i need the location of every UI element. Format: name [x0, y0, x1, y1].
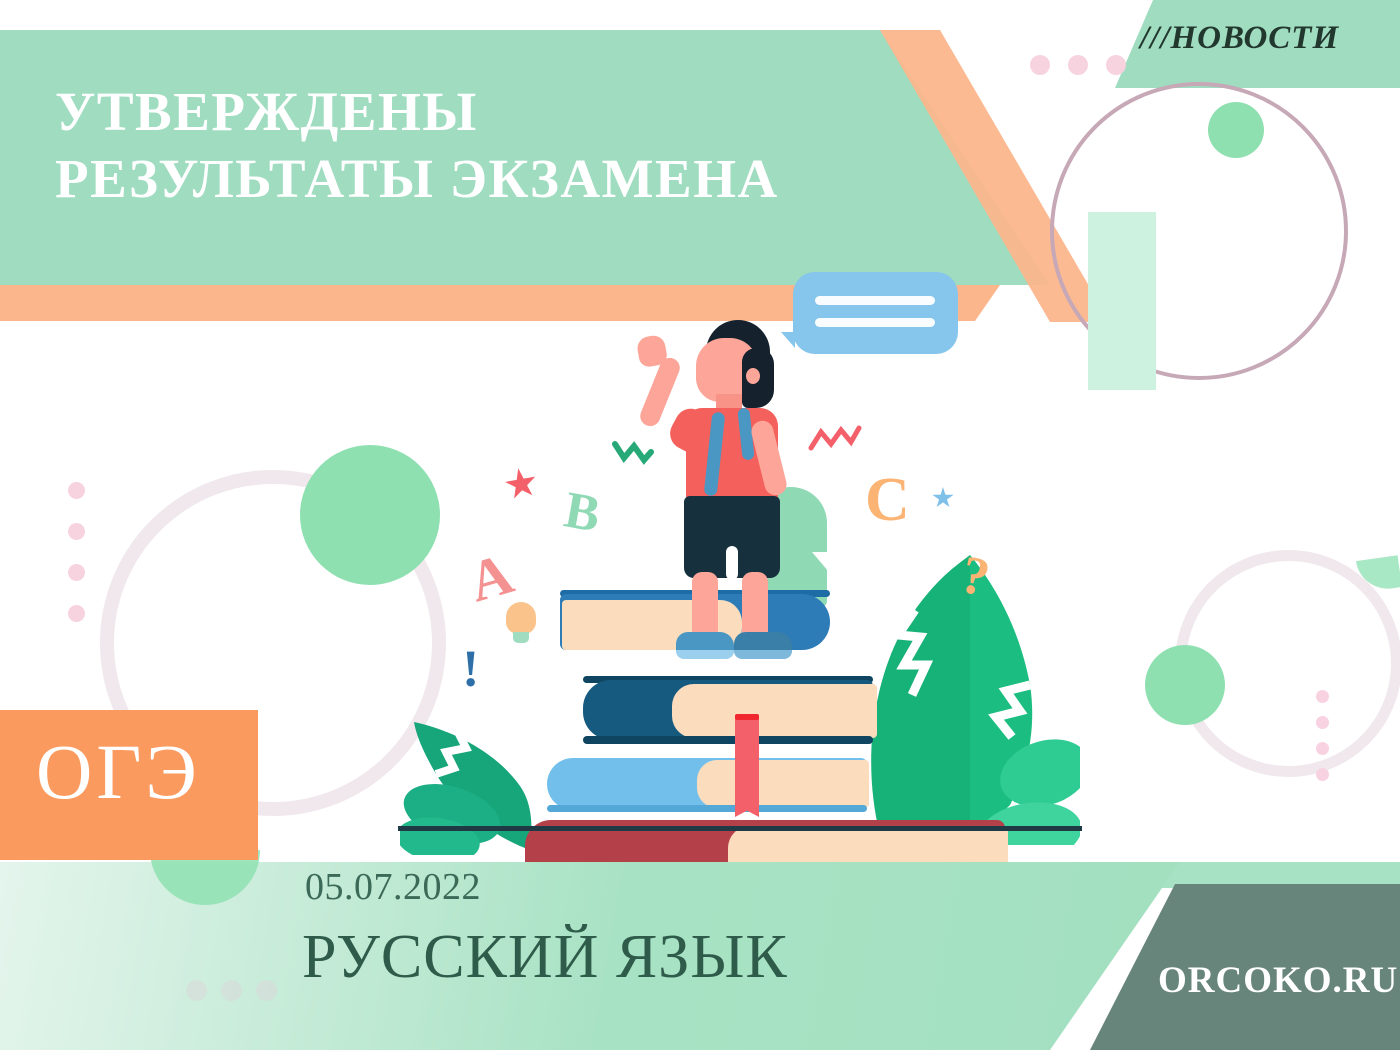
- dot: [1316, 768, 1329, 781]
- decor-circle-green-left: [300, 445, 440, 585]
- dot: [68, 523, 85, 540]
- exam-subject: РУССКИЙ ЯЗЫК: [302, 922, 788, 993]
- book-darkblue-pages: [672, 684, 877, 738]
- boy-ear: [746, 368, 760, 384]
- floating-letter-c: C: [865, 465, 910, 536]
- category-label: ///НОВОСТИ: [1140, 20, 1339, 57]
- decor-circle-green-top: [1208, 102, 1264, 158]
- floating-letter-b: B: [560, 480, 604, 544]
- dot: [1316, 690, 1329, 703]
- exam-type-badge: ОГЭ: [0, 710, 258, 860]
- star-blue-icon: [932, 487, 954, 509]
- decor-dots-top: [1030, 55, 1144, 80]
- dot: [68, 605, 85, 622]
- bookmark-ribbon-top: [735, 714, 759, 720]
- dot: [186, 980, 207, 1001]
- lightbulb-icon: [506, 602, 536, 644]
- dot: [1106, 55, 1126, 75]
- decor-rect-green-top: [1088, 212, 1156, 390]
- boy-figure: [630, 320, 800, 600]
- zigzag-red-icon: [808, 422, 862, 454]
- exam-type-label: ОГЭ: [36, 727, 201, 817]
- dot: [68, 564, 85, 581]
- dot: [68, 482, 85, 499]
- site-domain-label: ORCOKO.RU: [1158, 959, 1398, 1002]
- dot: [1030, 55, 1050, 75]
- publication-date: 05.07.2022: [305, 865, 481, 909]
- book-lightblue-edge: [547, 805, 867, 812]
- decor-dots-right: [1320, 690, 1329, 794]
- dot: [1316, 716, 1329, 729]
- boy-shoe-left-sole: [676, 650, 734, 659]
- boy-shoe-right-sole: [734, 650, 792, 659]
- boy-shorts-gap: [726, 546, 738, 580]
- zigzag-green-icon: [612, 440, 654, 466]
- bookmark-ribbon-icon: [735, 717, 759, 803]
- news-poster: ///НОВОСТИ УТВЕРЖДЕНЫ РЕЗУЛЬТАТЫ ЭКЗАМЕН…: [0, 0, 1400, 1050]
- dot: [1068, 55, 1088, 75]
- footer-dots: [186, 980, 291, 1006]
- decor-dots-left: [68, 482, 85, 646]
- page-title: УТВЕРЖДЕНЫ РЕЗУЛЬТАТЫ ЭКЗАМЕНА: [55, 78, 955, 212]
- dot: [1316, 742, 1329, 755]
- star-red-icon: [502, 465, 539, 502]
- decor-circle-green-right: [1145, 645, 1225, 725]
- speech-bubble-icon: [793, 272, 958, 354]
- dot: [256, 980, 277, 1001]
- floating-exclamation: !: [462, 640, 479, 699]
- dot: [221, 980, 242, 1001]
- ground-line: [398, 826, 1082, 831]
- book-darkblue-edge-bottom: [583, 736, 873, 744]
- book-lightblue-pages: [697, 760, 869, 808]
